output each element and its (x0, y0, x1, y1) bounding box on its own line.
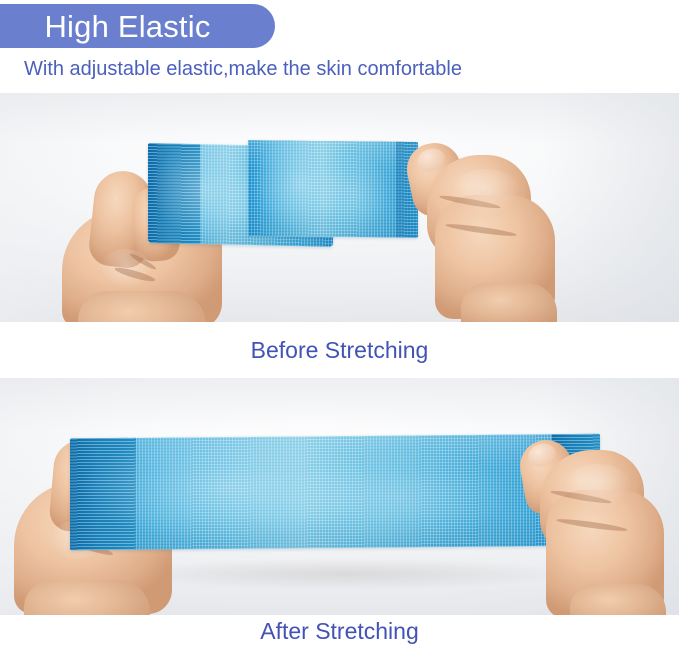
bandage-after (70, 434, 600, 551)
bandage-grip-end-before (396, 142, 418, 238)
caption-band-after: After Stretching (0, 615, 679, 648)
header: High Elastic With adjustable elastic,mak… (0, 0, 679, 93)
bandage-roll-end-before (148, 143, 200, 244)
feature-badge-label: High Elastic (44, 11, 210, 42)
bandage-right-grip-after (552, 434, 600, 546)
feature-subtitle: With adjustable elastic,make the skin co… (24, 58, 462, 80)
caption-after: After Stretching (260, 620, 419, 643)
bandage-left-grip-after (70, 438, 136, 551)
caption-before: Before Stretching (251, 339, 429, 362)
bandage-shadow-after (110, 558, 580, 590)
feature-badge: High Elastic (0, 4, 275, 48)
caption-band-before: Before Stretching (0, 322, 679, 378)
photo-panel-after (0, 378, 679, 615)
bandage-flat-before (248, 140, 418, 238)
photo-panel-before (0, 93, 679, 322)
product-feature-image: High Elastic With adjustable elastic,mak… (0, 0, 679, 648)
